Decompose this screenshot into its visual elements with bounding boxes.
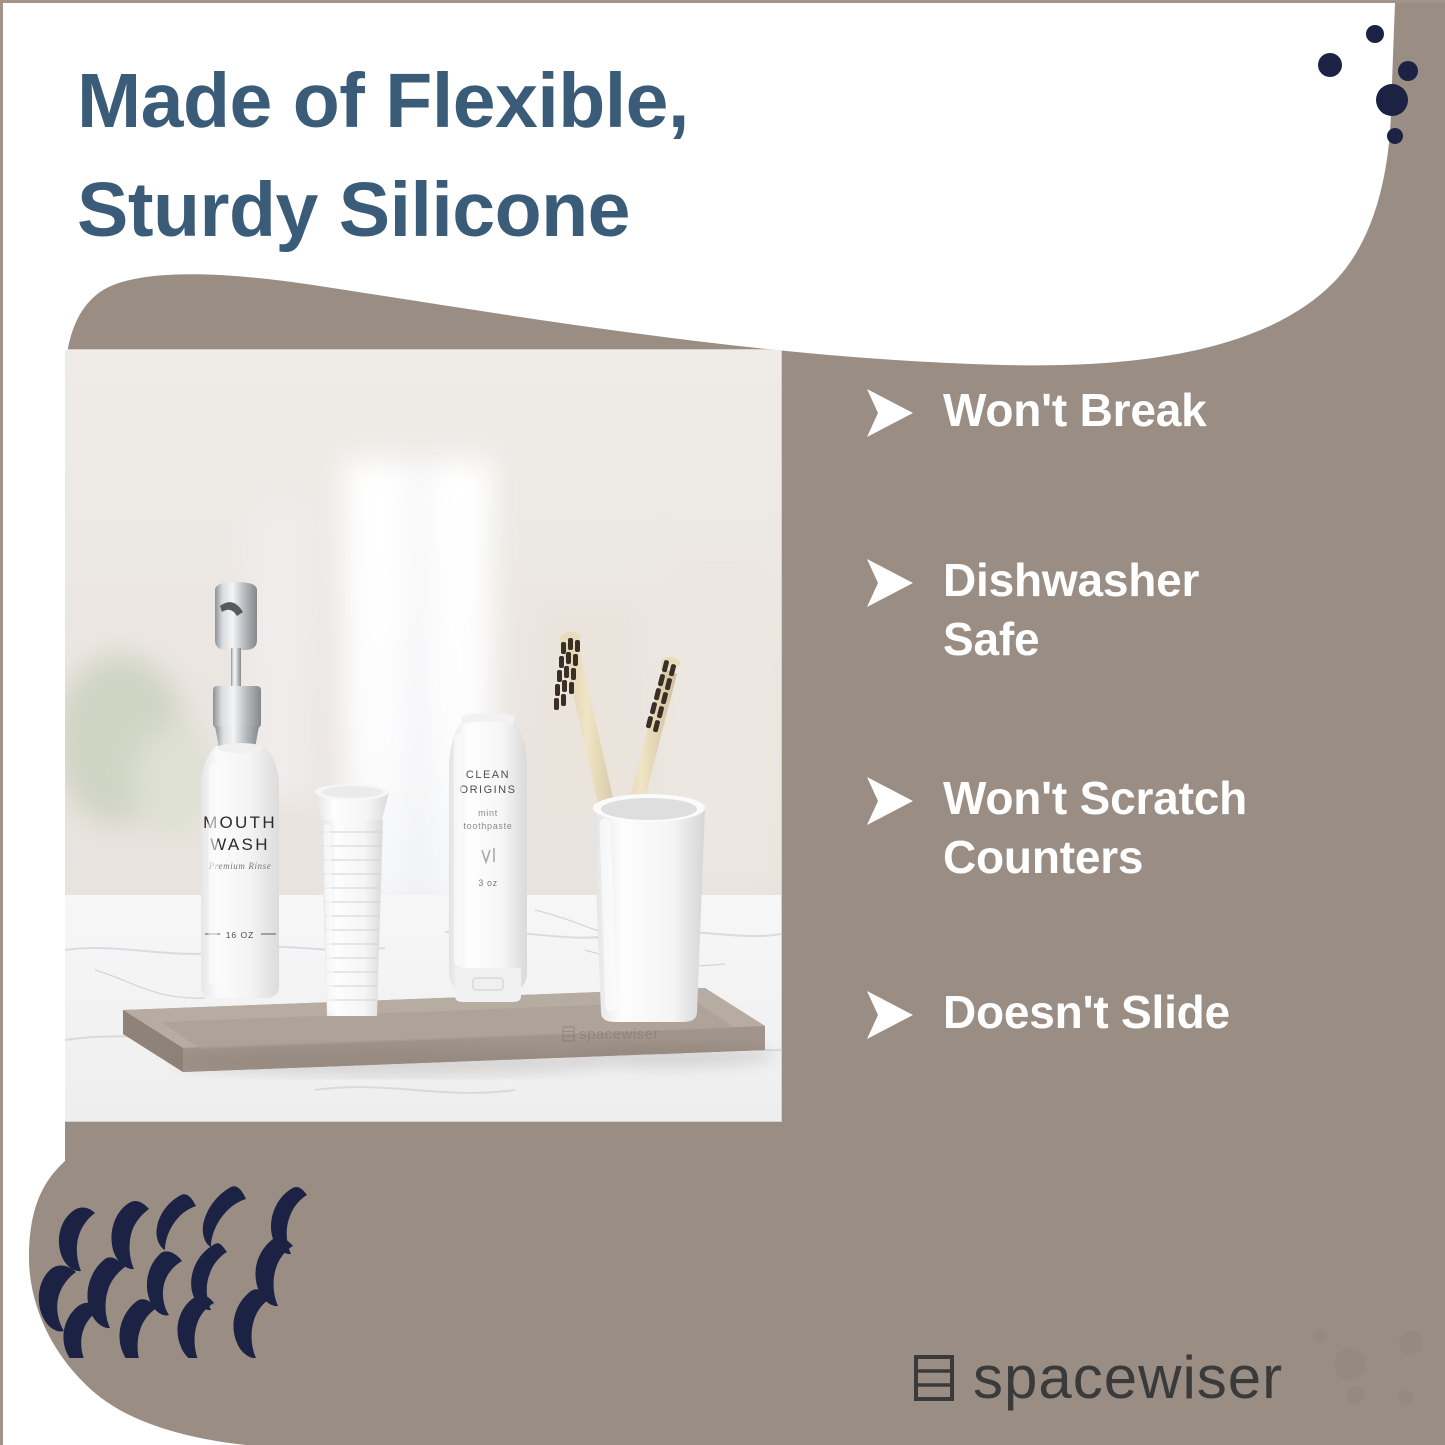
benefit-label: Won't Break bbox=[943, 381, 1207, 440]
toothpaste-tube: CLEAN ORIGINS mint toothpaste 3 oz bbox=[449, 713, 527, 1002]
svg-text:WASH: WASH bbox=[210, 835, 270, 854]
taupe-dot bbox=[1399, 1331, 1423, 1355]
taupe-dot bbox=[1346, 1386, 1364, 1404]
taupe-dot bbox=[1334, 1348, 1366, 1380]
svg-text:ORIGINS: ORIGINS bbox=[460, 784, 517, 796]
benefit-label: Doesn't Slide bbox=[943, 983, 1230, 1042]
taupe-dot bbox=[1398, 1390, 1414, 1406]
navy-dot bbox=[1398, 61, 1418, 81]
benefit-item: Won't Scratch Counters bbox=[865, 769, 1247, 887]
brand-name: spacewiser bbox=[973, 1348, 1283, 1408]
svg-text:spacewiser: spacewiser bbox=[579, 1026, 659, 1043]
navy-dot bbox=[1366, 25, 1384, 43]
svg-text:CLEAN: CLEAN bbox=[466, 769, 510, 781]
svg-text:mint: mint bbox=[478, 808, 498, 818]
benefit-item: Won't Break bbox=[865, 381, 1207, 440]
benefit-item: Dishwasher Safe bbox=[865, 551, 1199, 669]
shelf-icon bbox=[913, 1354, 955, 1402]
arrow-bullet-icon bbox=[865, 557, 915, 609]
product-photo-scene: spacewiser MOUTH WASH Premium Rinse bbox=[65, 350, 781, 1121]
arrow-bullet-icon bbox=[865, 775, 915, 827]
svg-text:16 OZ: 16 OZ bbox=[226, 930, 255, 940]
svg-text:toothpaste: toothpaste bbox=[463, 821, 512, 831]
navy-crescent-brush-pattern bbox=[33, 1173, 363, 1358]
navy-dot bbox=[1387, 128, 1403, 144]
taupe-dot bbox=[1314, 1329, 1328, 1343]
navy-dot bbox=[1318, 53, 1342, 77]
benefit-item: Doesn't Slide bbox=[865, 983, 1230, 1042]
product-photo: spacewiser MOUTH WASH Premium Rinse bbox=[65, 350, 781, 1121]
benefit-label: Won't Scratch Counters bbox=[943, 769, 1247, 887]
svg-text:3 oz: 3 oz bbox=[478, 878, 497, 888]
page-title: Made of Flexible, Sturdy Silicone bbox=[77, 47, 897, 266]
arrow-bullet-icon bbox=[865, 989, 915, 1041]
paper-cup-stack bbox=[315, 784, 389, 1016]
arrow-bullet-icon bbox=[865, 387, 915, 439]
infographic-canvas: Made of Flexible, Sturdy Silicone bbox=[0, 0, 1445, 1445]
benefit-label: Dishwasher Safe bbox=[943, 551, 1199, 669]
navy-dot bbox=[1376, 84, 1408, 116]
brand-logo: spacewiser bbox=[913, 1348, 1283, 1408]
